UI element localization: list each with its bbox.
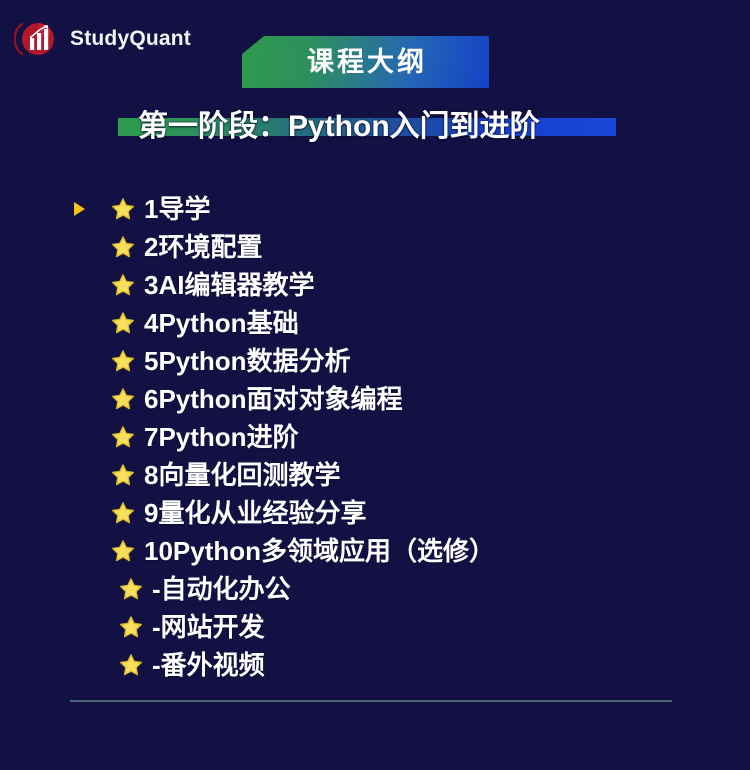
outline-item-label: -网站开发 — [152, 608, 265, 646]
outline-item[interactable]: 6Python面对对象编程 — [0, 380, 750, 418]
brand-logo: StudyQuant — [14, 16, 191, 62]
star-icon — [110, 304, 136, 342]
play-triangle-icon — [70, 190, 88, 228]
brand-name: StudyQuant — [70, 27, 191, 51]
star-icon — [118, 570, 144, 608]
outline-item-label: 3AI编辑器教学 — [144, 266, 314, 304]
outline-item[interactable]: 9量化从业经验分享 — [0, 494, 750, 532]
outline-item[interactable]: -番外视频 — [0, 646, 750, 684]
outline-item-label: 8向量化回测教学 — [144, 456, 340, 494]
subtitle-text: 第一阶段：Python入门到进阶 — [138, 104, 540, 150]
outline-item[interactable]: 10Python多领域应用（选修） — [0, 532, 750, 570]
star-icon — [118, 608, 144, 646]
outline-item-label: 2环境配置 — [144, 228, 262, 266]
star-icon — [110, 456, 136, 494]
outline-item[interactable]: 2环境配置 — [0, 228, 750, 266]
star-icon — [110, 380, 136, 418]
outline-item[interactable]: 5Python数据分析 — [0, 342, 750, 380]
star-icon — [118, 646, 144, 684]
page-title-banner: 课程大纲 — [242, 36, 489, 88]
star-icon — [110, 418, 136, 456]
outline-item-label: 6Python面对对象编程 — [144, 380, 403, 418]
footer-divider — [70, 700, 672, 702]
outline-list: 1导学2环境配置3AI编辑器教学4Python基础5Python数据分析6Pyt… — [0, 190, 750, 684]
play-triangle-shape — [74, 202, 85, 216]
star-icon — [110, 228, 136, 266]
outline-item[interactable]: 4Python基础 — [0, 304, 750, 342]
page-title: 课程大纲 — [304, 49, 427, 76]
outline-item-label: 1导学 — [144, 190, 210, 228]
outline-item-label: -番外视频 — [152, 646, 265, 684]
outline-item-label: 4Python基础 — [144, 304, 299, 342]
outline-item-label: 10Python多领域应用（选修） — [144, 532, 495, 570]
star-icon — [110, 266, 136, 304]
star-icon — [110, 190, 136, 228]
slide-canvas: StudyQuant 课程大纲 第一阶段：Python入门到进阶 1导学2环境配… — [0, 0, 750, 770]
chart-bars-logo-icon — [14, 16, 60, 62]
outline-item[interactable]: 8向量化回测教学 — [0, 456, 750, 494]
outline-item[interactable]: -自动化办公 — [0, 570, 750, 608]
outline-item-label: 9量化从业经验分享 — [144, 494, 366, 532]
star-icon — [110, 494, 136, 532]
star-icon — [110, 532, 136, 570]
outline-item-label: -自动化办公 — [152, 570, 291, 608]
outline-item[interactable]: 7Python进阶 — [0, 418, 750, 456]
outline-item[interactable]: 3AI编辑器教学 — [0, 266, 750, 304]
stage-subtitle: 第一阶段：Python入门到进阶 — [118, 104, 618, 150]
star-icon — [110, 342, 136, 380]
outline-item-label: 7Python进阶 — [144, 418, 299, 456]
outline-item-label: 5Python数据分析 — [144, 342, 351, 380]
outline-item[interactable]: -网站开发 — [0, 608, 750, 646]
outline-item[interactable]: 1导学 — [0, 190, 750, 228]
